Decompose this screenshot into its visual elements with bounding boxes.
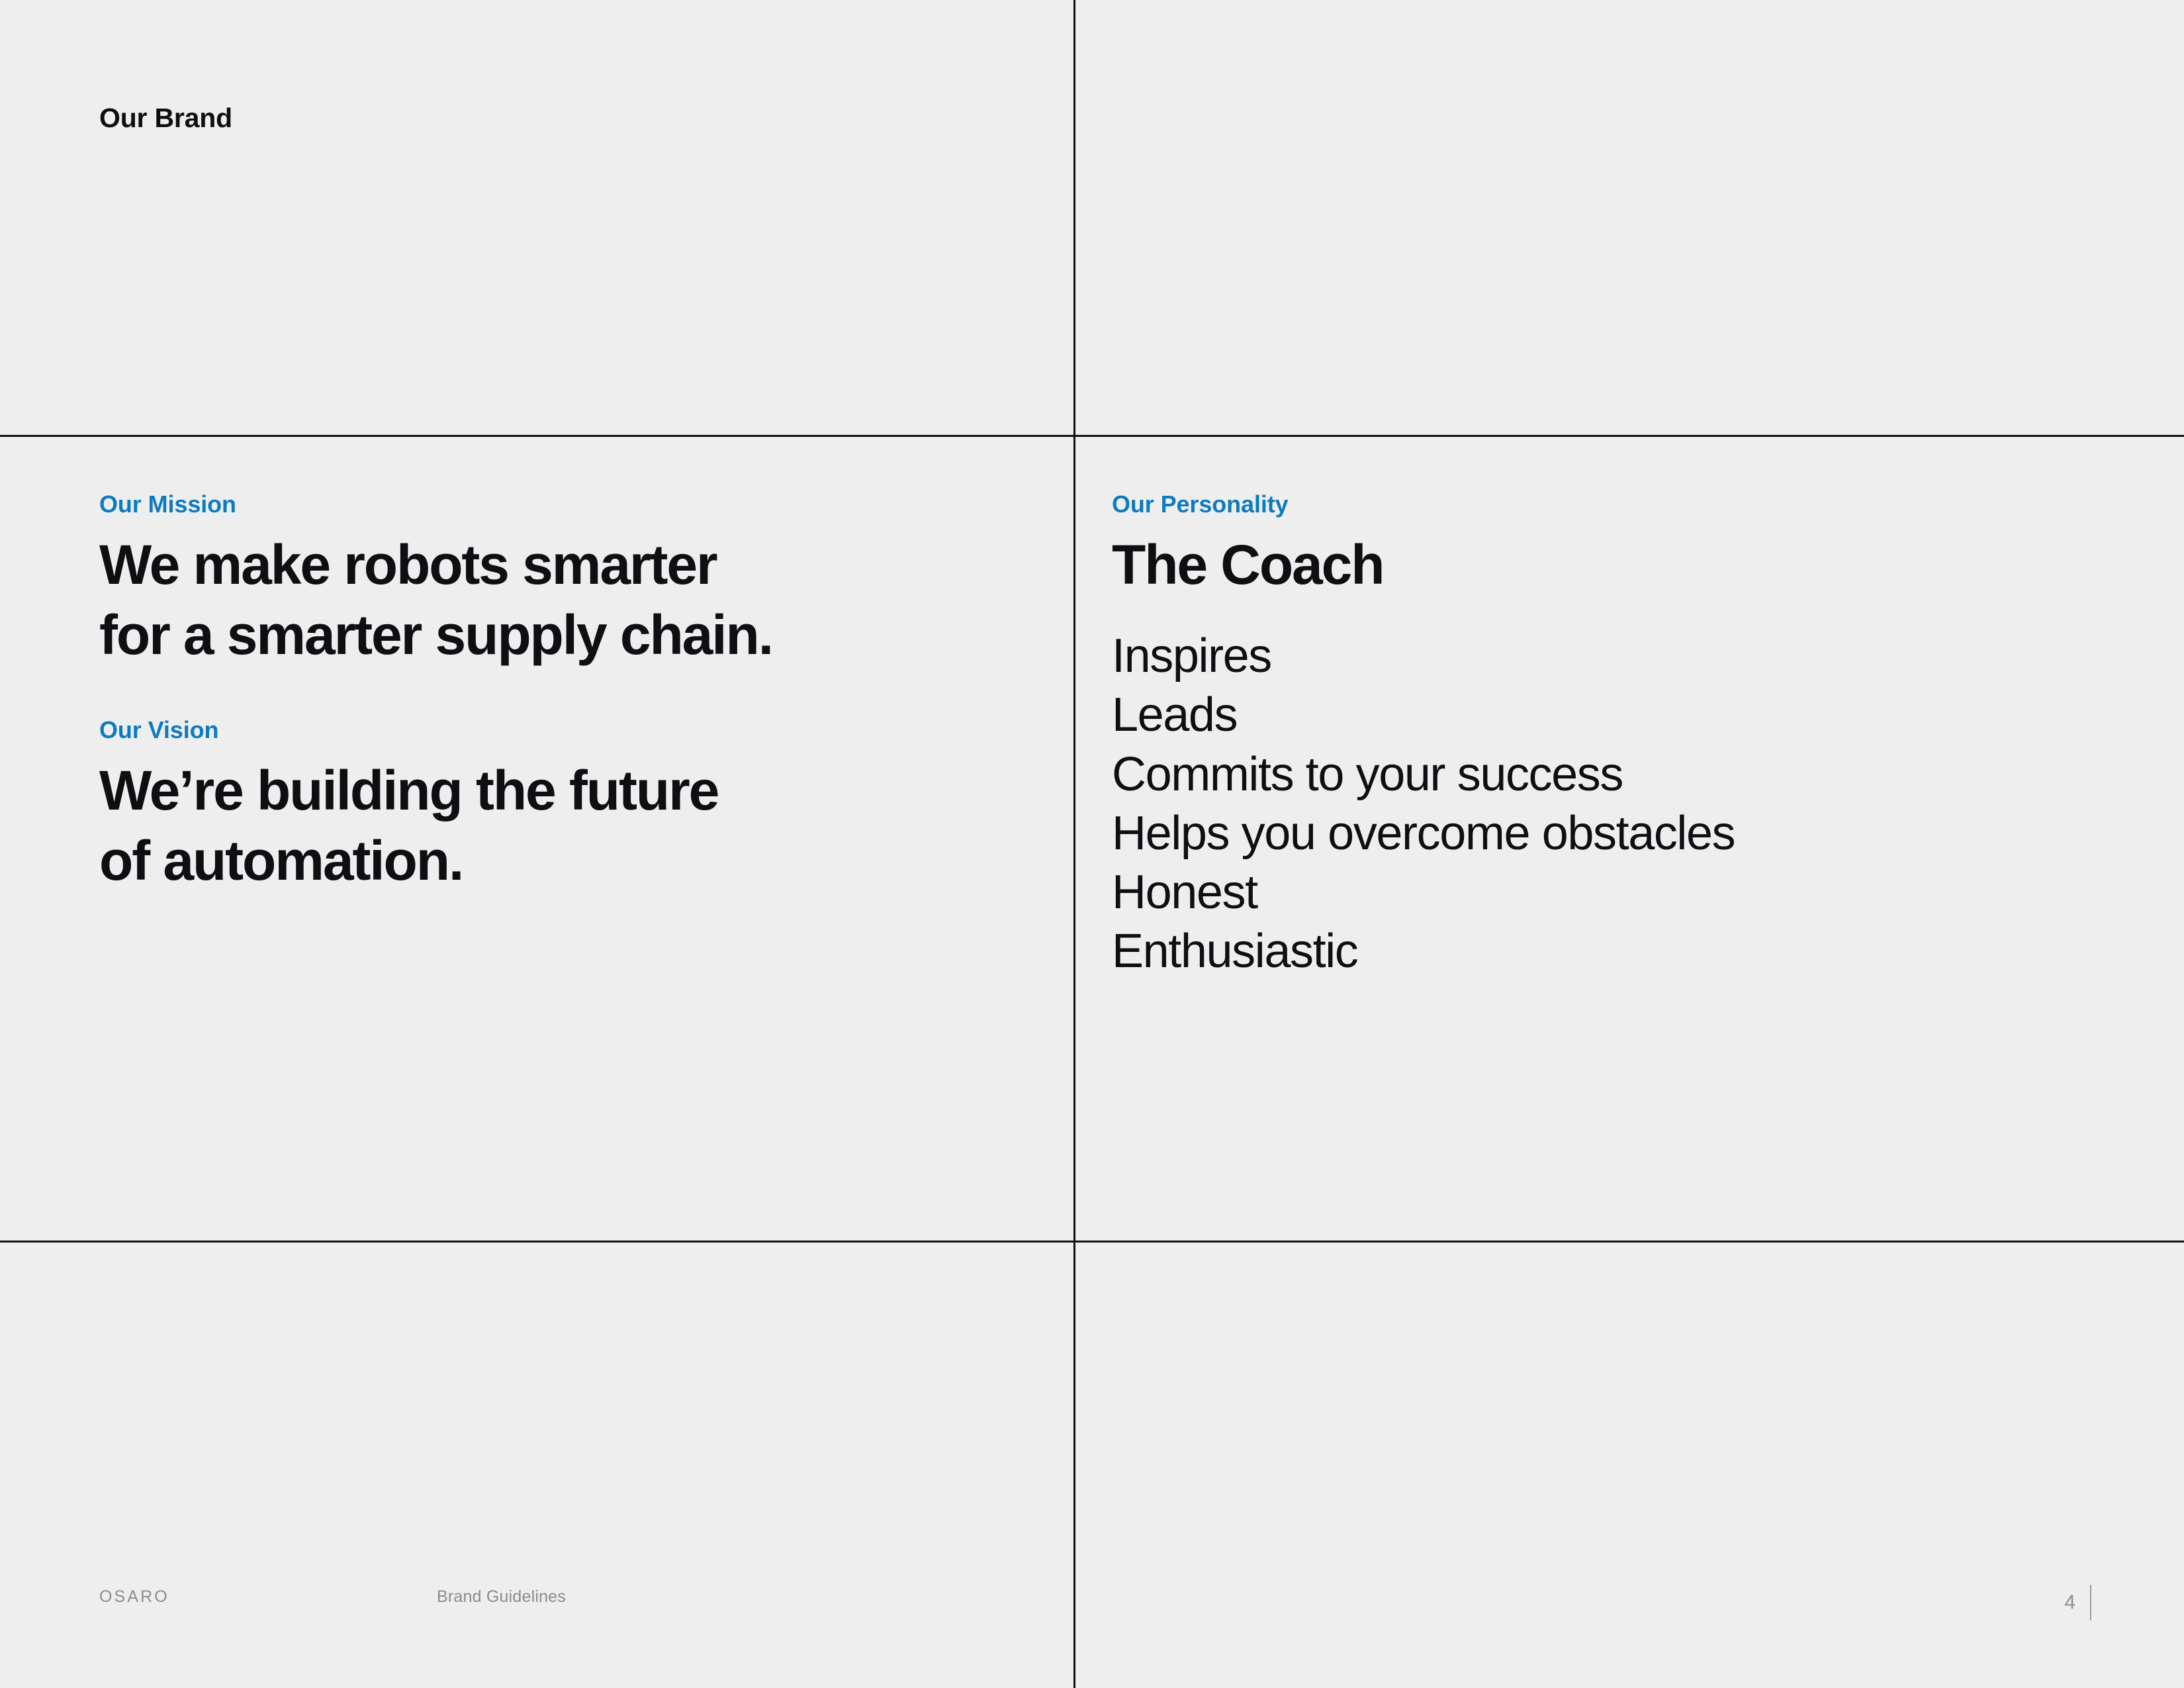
footer-document-name: Brand Guidelines: [437, 1587, 566, 1607]
list-item: Enthusiastic: [1112, 922, 2118, 981]
right-column: Our Personality The Coach Inspires Leads…: [1112, 490, 2118, 982]
divider-top: [0, 435, 2184, 437]
page-number: 4: [2064, 1593, 2075, 1613]
list-item: Commits to your success: [1112, 745, 2118, 804]
list-item: Honest: [1112, 863, 2118, 922]
left-column: Our Mission We make robots smarter for a…: [99, 490, 1039, 896]
page-number-rule-icon: [2090, 1585, 2091, 1620]
personality-trait-list: Inspires Leads Commits to your success H…: [1112, 627, 2118, 982]
vision-eyebrow: Our Vision: [99, 716, 1039, 744]
mission-headline: We make robots smarter for a smarter sup…: [99, 530, 1039, 671]
personality-block: Our Personality The Coach Inspires Leads…: [1112, 490, 2118, 982]
vision-block: Our Vision We’re building the future of …: [99, 716, 1039, 896]
footer-brand-name: OSARO: [99, 1587, 169, 1607]
divider-vertical: [1073, 0, 1075, 1688]
footer-page-indicator: 4: [2064, 1585, 2091, 1620]
column-spacer: [99, 671, 1039, 716]
brand-guidelines-page: Our Brand Our Mission We make robots sma…: [0, 0, 2184, 1688]
list-item: Helps you overcome obstacles: [1112, 804, 2118, 863]
personality-archetype: The Coach: [1112, 530, 2118, 600]
list-item: Leads: [1112, 686, 2118, 745]
page-footer: OSARO Brand Guidelines 4: [0, 1587, 2184, 1627]
divider-bottom: [0, 1241, 2184, 1243]
page-title: Our Brand: [99, 102, 232, 134]
list-item: Inspires: [1112, 627, 2118, 686]
vision-headline: We’re building the future of automation.: [99, 756, 1039, 896]
mission-block: Our Mission We make robots smarter for a…: [99, 490, 1039, 671]
personality-eyebrow: Our Personality: [1112, 490, 2118, 518]
mission-eyebrow: Our Mission: [99, 490, 1039, 518]
